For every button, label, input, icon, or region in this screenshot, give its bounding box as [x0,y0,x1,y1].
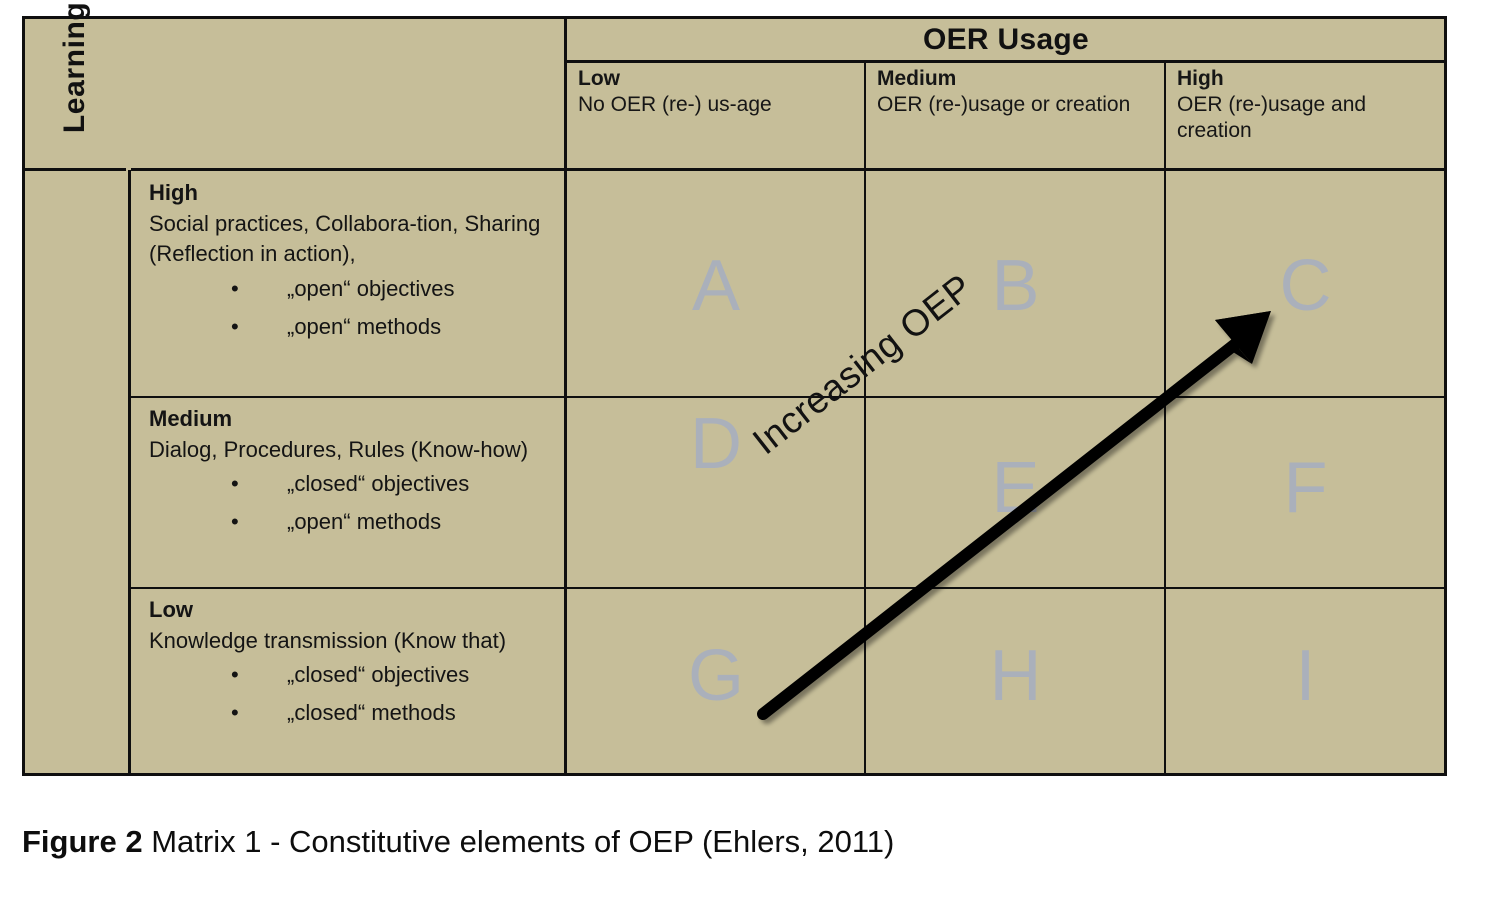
column-header-medium-description: OER (re-)usage or creation [877,92,1156,118]
row-header-high: High Social practices, Collabora-tion, S… [131,174,563,346]
figure-container: OER Usage Low No OER (re-) us-age Medium… [0,0,1488,904]
row-axis-title: Learning Architecture [25,0,125,272]
row-axis-title-cell: Learning Architecture [25,172,125,773]
row-header-low-level: Low [149,595,557,626]
column-header-low-description: No OER (re-) us-age [578,92,856,118]
column-header-low: Low No OER (re-) us-age [568,64,864,168]
row-header-low: Low Knowledge transmission (Know that) „… [131,591,563,732]
figure-caption-label: Figure 2 [22,824,143,859]
column-header-low-level: Low [578,66,856,92]
matrix-cell-f: F [1167,452,1444,524]
column-header-high-description: OER (re-)usage and creation [1177,92,1436,144]
list-item: „closed“ objectives [149,465,557,503]
row-header-high-description: Social practices, Collabora-tion, Sharin… [149,209,557,270]
list-item: „closed“ methods [149,694,557,732]
row-header-high-bullets: „open“ objectives „open“ methods [149,270,557,346]
grid-hline-header-bottom [131,168,1447,171]
figure-caption: Figure 2 Matrix 1 - Constitutive element… [22,822,894,862]
column-header-medium: Medium OER (re-)usage or creation [867,64,1164,168]
column-header-medium-level: Medium [877,66,1156,92]
matrix-cell-c: C [1167,250,1444,322]
matrix-cell-a: A [568,250,864,322]
list-item: „open“ objectives [149,270,557,308]
row-header-medium: Medium Dialog, Procedures, Rules (Know-h… [131,400,563,541]
row-header-low-bullets: „closed“ objectives „closed“ methods [149,656,557,732]
column-header-high: High OER (re-)usage and creation [1167,64,1444,168]
row-header-medium-level: Medium [149,404,557,435]
grid-hline-row1-bottom [128,587,1447,589]
list-item: „open“ methods [149,308,557,346]
list-item: „closed“ objectives [149,656,557,694]
column-header-high-level: High [1177,66,1436,92]
row-header-low-description: Knowledge transmission (Know that) [149,626,557,657]
matrix-cell-i: I [1167,640,1444,712]
list-item: „open“ methods [149,503,557,541]
matrix-cell-e: E [867,452,1164,524]
figure-caption-text: Matrix 1 - Constitutive elements of OEP … [151,824,894,859]
matrix-cell-g: G [568,640,864,712]
column-axis-title: OER Usage [568,19,1444,60]
grid-hline-below-oer-usage [564,60,1447,63]
row-header-medium-description: Dialog, Procedures, Rules (Know-how) [149,435,557,466]
row-header-high-level: High [149,178,557,209]
matrix-cell-h: H [867,640,1164,712]
row-header-medium-bullets: „closed“ objectives „open“ methods [149,465,557,541]
